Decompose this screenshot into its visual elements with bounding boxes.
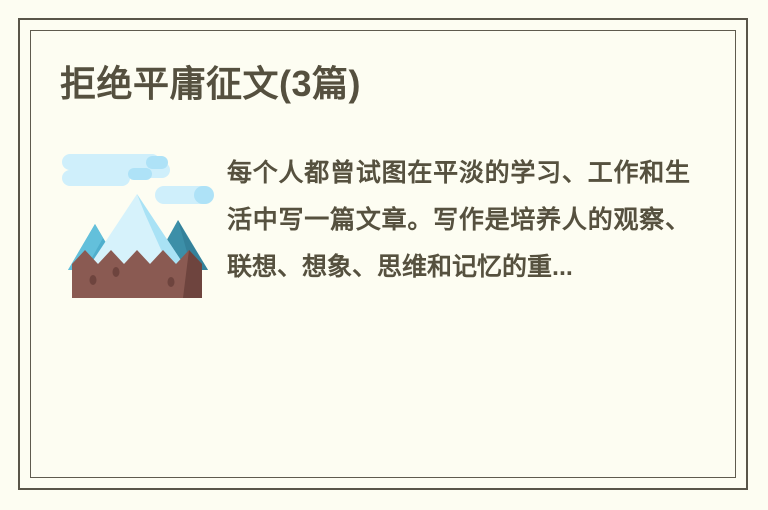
- article-body: 每个人都曾试图在平淡的学习、工作和生活中写一篇文章。写作是培养人的观察、联想、想…: [60, 150, 690, 440]
- page-title[interactable]: 拒绝平庸征文(3篇): [60, 62, 361, 106]
- article-card[interactable]: 拒绝平庸征文(3篇): [18, 18, 748, 490]
- mountain-illustration-icon: [60, 152, 215, 300]
